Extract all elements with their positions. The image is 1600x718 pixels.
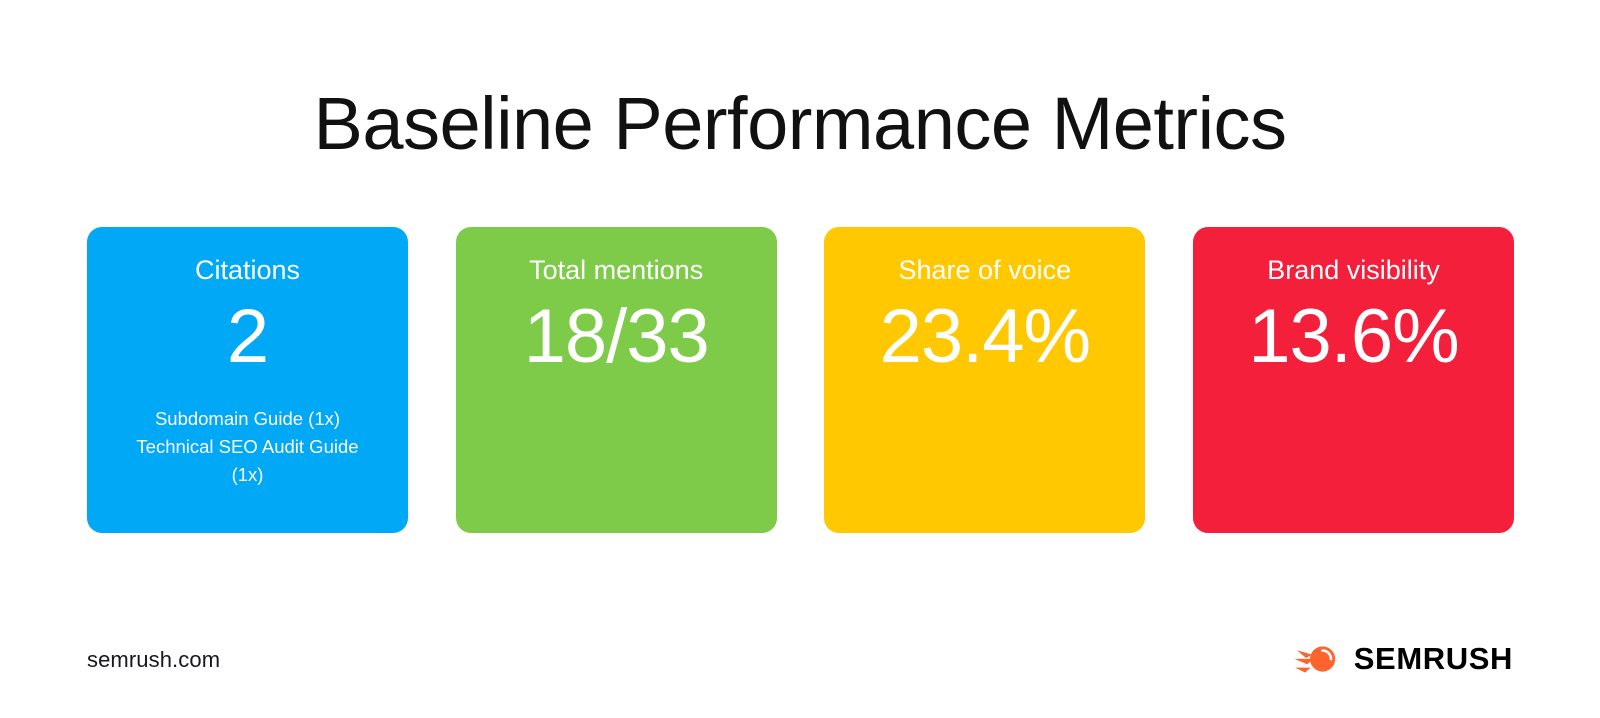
metric-card-label: Citations bbox=[195, 253, 300, 287]
metric-card-share-of-voice: Share of voice 23.4% bbox=[824, 227, 1145, 533]
metric-card-brand-visibility: Brand visibility 13.6% bbox=[1193, 227, 1514, 533]
metric-card-label: Total mentions bbox=[529, 253, 703, 287]
infographic-page: Baseline Performance Metrics Citations 2… bbox=[0, 0, 1600, 718]
metric-cards-row: Citations 2 Subdomain Guide (1x) Technic… bbox=[87, 227, 1514, 533]
metric-card-label: Brand visibility bbox=[1267, 253, 1440, 287]
metric-card-total-mentions: Total mentions 18/33 bbox=[456, 227, 777, 533]
semrush-wordmark: SEMRUSH bbox=[1354, 642, 1513, 676]
metric-card-value: 13.6% bbox=[1248, 291, 1459, 383]
semrush-logo: SEMRUSH bbox=[1294, 640, 1513, 678]
metric-card-value: 2 bbox=[227, 291, 268, 383]
metric-card-label: Share of voice bbox=[899, 253, 1072, 287]
metric-card-value: 23.4% bbox=[880, 291, 1091, 383]
semrush-comet-icon bbox=[1294, 642, 1342, 676]
page-title: Baseline Performance Metrics bbox=[0, 78, 1600, 170]
metric-card-citations: Citations 2 Subdomain Guide (1x) Technic… bbox=[87, 227, 408, 533]
metric-card-value: 18/33 bbox=[524, 291, 709, 383]
footer-source-url: semrush.com bbox=[87, 646, 220, 674]
metric-card-detail: Subdomain Guide (1x) Technical SEO Audit… bbox=[133, 405, 363, 489]
